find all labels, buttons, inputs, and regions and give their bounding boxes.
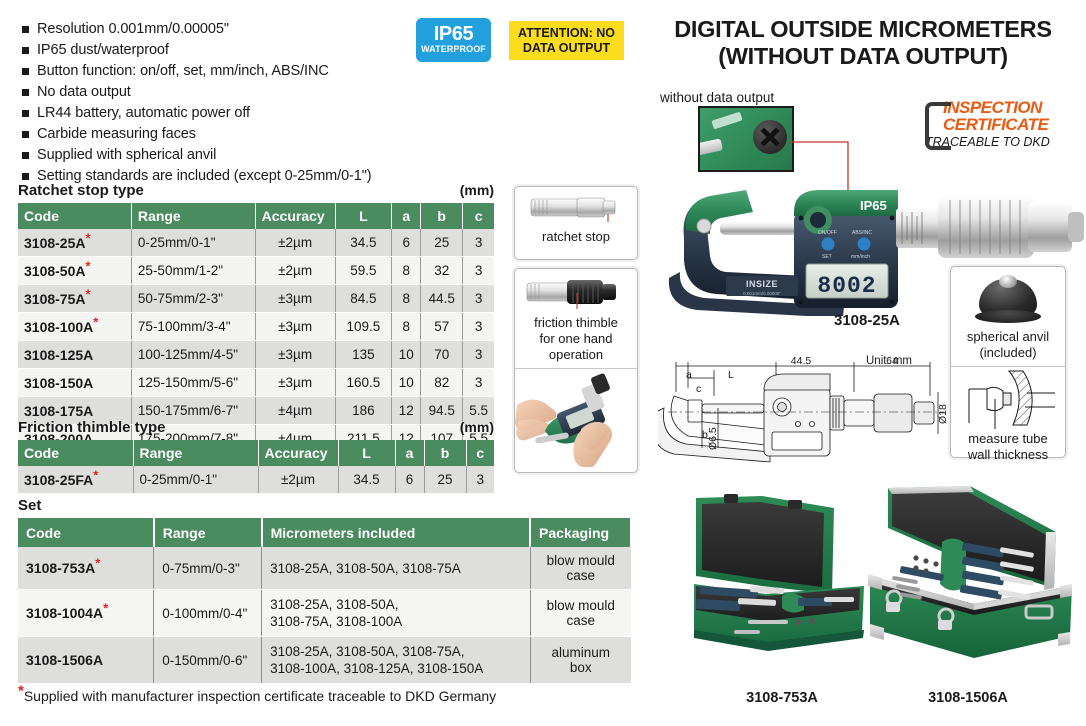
feature-text: Button function: on/off, set, mm/inch, A… bbox=[37, 62, 329, 81]
cell-range: 0-75mm/0-3" bbox=[154, 547, 262, 590]
asterisk-icon: * bbox=[86, 258, 91, 273]
table-row: 3108-125A100-125mm/4-5"±3µm13510703 bbox=[18, 341, 494, 369]
packaging-line1: aluminum bbox=[539, 645, 623, 660]
cell-a: 8 bbox=[392, 313, 421, 341]
case-1506a-photo bbox=[850, 482, 1086, 672]
anvil-caption-line4: wall thickness bbox=[951, 447, 1065, 463]
cell-l: 84.5 bbox=[335, 285, 392, 313]
table-row: 3108-25FA*0-25mm/0-1"±2µm34.56253 bbox=[18, 466, 494, 494]
asterisk-icon: * bbox=[93, 467, 98, 482]
code-text: 3108-753A bbox=[26, 560, 95, 576]
cell-packaging: blow mouldcase bbox=[530, 547, 631, 590]
bullet-square-icon bbox=[22, 47, 29, 54]
cell-code: 3108-1004A* bbox=[18, 590, 154, 637]
cell-a: 6 bbox=[395, 466, 424, 494]
cell-b: 70 bbox=[421, 341, 463, 369]
bullet-square-icon bbox=[22, 110, 29, 117]
friction-table-caption: Friction thimble type bbox=[18, 419, 166, 436]
column-header-range: Range bbox=[133, 440, 258, 466]
cell-c: 3 bbox=[463, 285, 494, 313]
table-row: 3108-753A*0-75mm/0-3"3108-25A, 3108-50A,… bbox=[18, 547, 631, 590]
bullet-square-icon bbox=[22, 131, 29, 138]
column-header-micrometers-included: Micrometers included bbox=[262, 518, 530, 547]
column-header-packaging: Packaging bbox=[530, 518, 631, 547]
table-row: 3108-75A*50-75mm/2-3"±3µm84.5844.53 bbox=[18, 285, 494, 313]
attention-badge-line2: DATA OUTPUT bbox=[509, 41, 624, 56]
cell-packaging: aluminumbox bbox=[530, 637, 631, 684]
column-header-c: c bbox=[463, 203, 494, 229]
feature-item: No data output bbox=[18, 83, 438, 102]
cell-range: 0-100mm/0-4" bbox=[154, 590, 262, 637]
ip65-badge-subtitle: WATERPROOF bbox=[416, 44, 491, 55]
cell-range: 0-25mm/0-1" bbox=[133, 466, 258, 494]
anvil-caption-line1: spherical anvil bbox=[951, 329, 1065, 345]
without-data-output-caption: without data output bbox=[660, 90, 774, 105]
svg-text:ABS/INC: ABS/INC bbox=[852, 230, 872, 236]
cell-code: 3108-25A* bbox=[18, 229, 131, 257]
drawing-dim-44-5: 44.5 bbox=[791, 355, 812, 367]
attention-badge: ATTENTION: NO DATA OUTPUT bbox=[509, 21, 624, 60]
one-hand-operation-photo bbox=[515, 369, 637, 467]
asterisk-icon: * bbox=[95, 555, 100, 570]
cell-b: 25 bbox=[424, 466, 466, 494]
table-header-row: CodeRangeAccuracyLabc bbox=[18, 440, 494, 466]
packaging-line1: blow mould bbox=[539, 553, 623, 568]
page-title-line2: (WITHOUT DATA OUTPUT) bbox=[640, 43, 1086, 70]
cell-accuracy: ±3µm bbox=[255, 341, 335, 369]
feature-item: Supplied with spherical anvil bbox=[18, 146, 438, 165]
certificate-line2: CERTIFICATE bbox=[943, 116, 1085, 133]
cell-code: 3108-1506A bbox=[18, 637, 154, 684]
cell-code: 3108-50A* bbox=[18, 257, 131, 285]
micrometer-brand-text: INSIZE bbox=[746, 279, 778, 289]
anvil-caption-line3: measure tube bbox=[951, 431, 1065, 447]
cell-b: 25 bbox=[421, 229, 463, 257]
friction-thimble-table-section: Friction thimble type (mm) CodeRangeAccu… bbox=[18, 419, 494, 494]
code-text: 3108-150A bbox=[24, 375, 93, 391]
spindle-shape bbox=[698, 138, 723, 155]
footnote-text: Supplied with manufacturer inspection ce… bbox=[24, 688, 496, 704]
set-table-caption: Set bbox=[18, 497, 41, 514]
code-text: 3108-25FA bbox=[24, 472, 93, 488]
micrometer-model-label: 3108-25A bbox=[834, 312, 900, 329]
cell-accuracy: ±3µm bbox=[255, 285, 335, 313]
cell-c: 3 bbox=[463, 369, 494, 397]
feature-item: Carbide measuring faces bbox=[18, 125, 438, 144]
column-header-l: L bbox=[338, 440, 395, 466]
feature-text: Carbide measuring faces bbox=[37, 125, 196, 144]
cell-accuracy: ±3µm bbox=[255, 313, 335, 341]
feature-text: IP65 dust/waterproof bbox=[37, 41, 169, 60]
cell-b: 44.5 bbox=[421, 285, 463, 313]
code-text: 3108-1004A bbox=[26, 605, 103, 621]
cell-l: 34.5 bbox=[335, 229, 392, 257]
code-text: 3108-100A bbox=[24, 319, 93, 335]
friction-thimble-callout-panel: friction thimble for one hand operation bbox=[514, 268, 638, 473]
micrometer-display-value: 8002 bbox=[817, 273, 876, 299]
micrometer-ip65-text: IP65 bbox=[860, 198, 887, 213]
feature-list: Resolution 0.001mm/0.00005"IP65 dust/wat… bbox=[18, 20, 438, 188]
ip65-badge-title: IP65 bbox=[416, 25, 491, 44]
photo-highlight bbox=[711, 112, 742, 130]
spherical-anvil-callout-panel: spherical anvil (included) measure tub bbox=[950, 266, 1066, 458]
cell-l: 59.5 bbox=[335, 257, 392, 285]
bullet-square-icon bbox=[22, 26, 29, 33]
table-row: 3108-50A*25-50mm/1-2"±2µm59.58323 bbox=[18, 257, 494, 285]
cell-l: 160.5 bbox=[335, 369, 392, 397]
drawing-dim-diameter-65: Ø6.5 bbox=[707, 427, 719, 450]
column-header-a: a bbox=[395, 440, 424, 466]
footnote: *Supplied with manufacturer inspection c… bbox=[18, 688, 496, 704]
feature-item: Button function: on/off, set, mm/inch, A… bbox=[18, 62, 438, 81]
case-753a-label: 3108-753A bbox=[694, 690, 870, 706]
anvil-ball-tip bbox=[999, 275, 1017, 288]
tube-wall-measurement-diagram bbox=[951, 367, 1065, 431]
table-row: 3108-100A*75-100mm/3-4"±3µm109.58573 bbox=[18, 313, 494, 341]
asterisk-icon: * bbox=[93, 314, 98, 329]
cell-code: 3108-125A bbox=[18, 341, 131, 369]
table-row: 3108-25A*0-25mm/0-1"±2µm34.56253 bbox=[18, 229, 494, 257]
certificate-line1: INSPECTION bbox=[943, 100, 1085, 116]
asterisk-icon: * bbox=[86, 286, 91, 301]
ratchet-stop-callout-panel: ratchet stop bbox=[514, 186, 638, 260]
code-text: 3108-1506A bbox=[26, 652, 103, 668]
code-text: 3108-75A bbox=[24, 291, 86, 307]
ratchet-stop-table: CodeRangeAccuracyLabc 3108-25A*0-25mm/0-… bbox=[18, 203, 494, 453]
column-header-code: Code bbox=[18, 518, 154, 547]
code-text: 3108-125A bbox=[24, 347, 93, 363]
cell-code: 3108-100A* bbox=[18, 313, 131, 341]
asterisk-icon: * bbox=[103, 600, 108, 615]
friction-table-unit: (mm) bbox=[460, 419, 494, 435]
cell-a: 10 bbox=[392, 369, 421, 397]
page-title: DIGITAL OUTSIDE MICROMETERS (WITHOUT DAT… bbox=[640, 16, 1086, 70]
column-header-b: b bbox=[421, 203, 463, 229]
cell-code: 3108-25FA* bbox=[18, 466, 133, 494]
cell-micrometers-included: 3108-25A, 3108-50A, 3108-75A, 3108-100A bbox=[262, 590, 530, 637]
friction-thimble-caption-line1: friction thimble bbox=[515, 315, 637, 331]
column-header-b: b bbox=[424, 440, 466, 466]
column-header-c: c bbox=[466, 440, 494, 466]
column-header-range: Range bbox=[154, 518, 262, 547]
spherical-anvil-photo bbox=[973, 275, 1043, 327]
ratchet-stop-table-section: Ratchet stop type (mm) CodeRangeAccuracy… bbox=[18, 182, 494, 453]
cell-a: 8 bbox=[392, 257, 421, 285]
set-table-section: Set CodeRangeMicrometers includedPackagi… bbox=[18, 497, 632, 684]
drawing-dim-L: L bbox=[728, 369, 734, 381]
cell-micrometers-included: 3108-25A, 3108-50A, 3108-75A bbox=[262, 547, 530, 590]
cell-c: 3 bbox=[466, 466, 494, 494]
cell-packaging: blow mouldcase bbox=[530, 590, 631, 637]
bullet-square-icon bbox=[22, 68, 29, 75]
friction-thimble-table: CodeRangeAccuracyLabc 3108-25FA*0-25mm/0… bbox=[18, 440, 494, 494]
cell-range: 25-50mm/1-2" bbox=[131, 257, 255, 285]
cell-l: 135 bbox=[335, 341, 392, 369]
table-row: 3108-1004A*0-100mm/0-4"3108-25A, 3108-50… bbox=[18, 590, 631, 637]
feature-item: IP65 dust/waterproof bbox=[18, 41, 438, 60]
drawing-dim-a: a bbox=[686, 369, 692, 381]
packaging-line1: blow mould bbox=[539, 598, 623, 613]
table-row: 3108-1506A0-150mm/0-6"3108-25A, 3108-50A… bbox=[18, 637, 631, 684]
svg-text:SET: SET bbox=[822, 254, 832, 260]
bullet-square-icon bbox=[22, 173, 29, 180]
bullet-square-icon bbox=[22, 89, 29, 96]
cell-c: 3 bbox=[463, 313, 494, 341]
friction-thimble-caption-line2: for one hand bbox=[515, 331, 637, 347]
screw-cap-icon bbox=[753, 120, 787, 154]
table-header-row: CodeRangeMicrometers includedPackaging bbox=[18, 518, 631, 547]
cell-c: 3 bbox=[463, 257, 494, 285]
ratchet-stop-caption: ratchet stop bbox=[515, 229, 637, 251]
cell-range: 125-150mm/5-6" bbox=[131, 369, 255, 397]
catalog-page: Resolution 0.001mm/0.00005"IP65 dust/wat… bbox=[0, 0, 1086, 726]
cell-code: 3108-753A* bbox=[18, 547, 154, 590]
drawing-dim-64: 64 bbox=[886, 355, 898, 367]
anvil-base-shape bbox=[975, 310, 1041, 323]
cell-c: 3 bbox=[463, 341, 494, 369]
column-header-code: Code bbox=[18, 203, 131, 229]
table-row: 3108-150A125-150mm/5-6"±3µm160.510823 bbox=[18, 369, 494, 397]
packaging-line2: case bbox=[539, 568, 623, 583]
drawing-dim-diameter-18: Ø18 bbox=[937, 404, 949, 424]
cell-a: 8 bbox=[392, 285, 421, 313]
packaging-line2: box bbox=[539, 660, 623, 675]
feature-item: LR44 battery, automatic power off bbox=[18, 104, 438, 123]
cell-a: 6 bbox=[392, 229, 421, 257]
cell-micrometers-included: 3108-25A, 3108-50A, 3108-75A, 3108-100A,… bbox=[262, 637, 530, 684]
column-header-range: Range bbox=[131, 203, 255, 229]
code-text: 3108-25A bbox=[24, 235, 86, 251]
column-header-accuracy: Accuracy bbox=[258, 440, 338, 466]
packaging-line2: case bbox=[539, 613, 623, 628]
anvil-caption-line2: (included) bbox=[951, 345, 1065, 366]
column-header-code: Code bbox=[18, 440, 133, 466]
cell-c: 3 bbox=[463, 229, 494, 257]
cell-accuracy: ±2µm bbox=[255, 257, 335, 285]
ip65-waterproof-badge: IP65 WATERPROOF bbox=[416, 18, 491, 62]
technical-drawing: a L c b Ø6.5 44.5 64 Ø18 bbox=[658, 352, 954, 474]
bullet-square-icon bbox=[22, 152, 29, 159]
friction-thimble-caption-line3: operation bbox=[515, 347, 637, 368]
cell-accuracy: ±3µm bbox=[255, 369, 335, 397]
without-data-output-photo bbox=[698, 106, 794, 172]
column-header-l: L bbox=[335, 203, 392, 229]
cell-b: 82 bbox=[421, 369, 463, 397]
cell-code: 3108-75A* bbox=[18, 285, 131, 313]
attention-badge-line1: ATTENTION: NO bbox=[509, 26, 624, 41]
friction-thimble-photo bbox=[515, 269, 637, 315]
drawing-dim-c: c bbox=[696, 383, 701, 395]
cell-l: 109.5 bbox=[335, 313, 392, 341]
code-text: 3108-175A bbox=[24, 403, 93, 419]
case-1506a-label: 3108-1506A bbox=[850, 690, 1086, 706]
cell-range: 0-150mm/0-6" bbox=[154, 637, 262, 684]
cell-range: 50-75mm/2-3" bbox=[131, 285, 255, 313]
ratchet-table-unit: (mm) bbox=[460, 182, 494, 198]
svg-text:mm/inch: mm/inch bbox=[851, 254, 870, 260]
feature-text: Supplied with spherical anvil bbox=[37, 146, 216, 165]
cell-b: 32 bbox=[421, 257, 463, 285]
svg-text:ON/OFF: ON/OFF bbox=[818, 230, 837, 236]
column-header-a: a bbox=[392, 203, 421, 229]
feature-text: Resolution 0.001mm/0.00005" bbox=[37, 20, 229, 39]
cell-a: 10 bbox=[392, 341, 421, 369]
feature-text: LR44 battery, automatic power off bbox=[37, 104, 250, 123]
svg-text:0.001mm/0.00005": 0.001mm/0.00005" bbox=[743, 291, 781, 296]
cell-range: 100-125mm/4-5" bbox=[131, 341, 255, 369]
cell-accuracy: ±2µm bbox=[255, 229, 335, 257]
cell-l: 34.5 bbox=[338, 466, 395, 494]
cell-code: 3108-150A bbox=[18, 369, 131, 397]
inspection-certificate-logo: INSPECTION CERTIFICATE TRACEABLE TO DKD bbox=[925, 100, 1085, 150]
case-753a-photo bbox=[694, 492, 870, 670]
cell-accuracy: ±2µm bbox=[258, 466, 338, 494]
ratchet-table-caption: Ratchet stop type bbox=[18, 182, 144, 199]
cell-range: 75-100mm/3-4" bbox=[131, 313, 255, 341]
feature-item: Resolution 0.001mm/0.00005" bbox=[18, 20, 438, 39]
asterisk-icon: * bbox=[86, 230, 91, 245]
ratchet-stop-photo bbox=[515, 187, 637, 229]
certificate-bracket-icon bbox=[925, 102, 951, 150]
table-header-row: CodeRangeAccuracyLabc bbox=[18, 203, 494, 229]
column-header-accuracy: Accuracy bbox=[255, 203, 335, 229]
page-title-line1: DIGITAL OUTSIDE MICROMETERS bbox=[640, 16, 1086, 43]
feature-text: No data output bbox=[37, 83, 131, 102]
code-text: 3108-50A bbox=[24, 263, 86, 279]
cell-range: 0-25mm/0-1" bbox=[131, 229, 255, 257]
set-table: CodeRangeMicrometers includedPackaging 3… bbox=[18, 518, 632, 684]
cell-b: 57 bbox=[421, 313, 463, 341]
